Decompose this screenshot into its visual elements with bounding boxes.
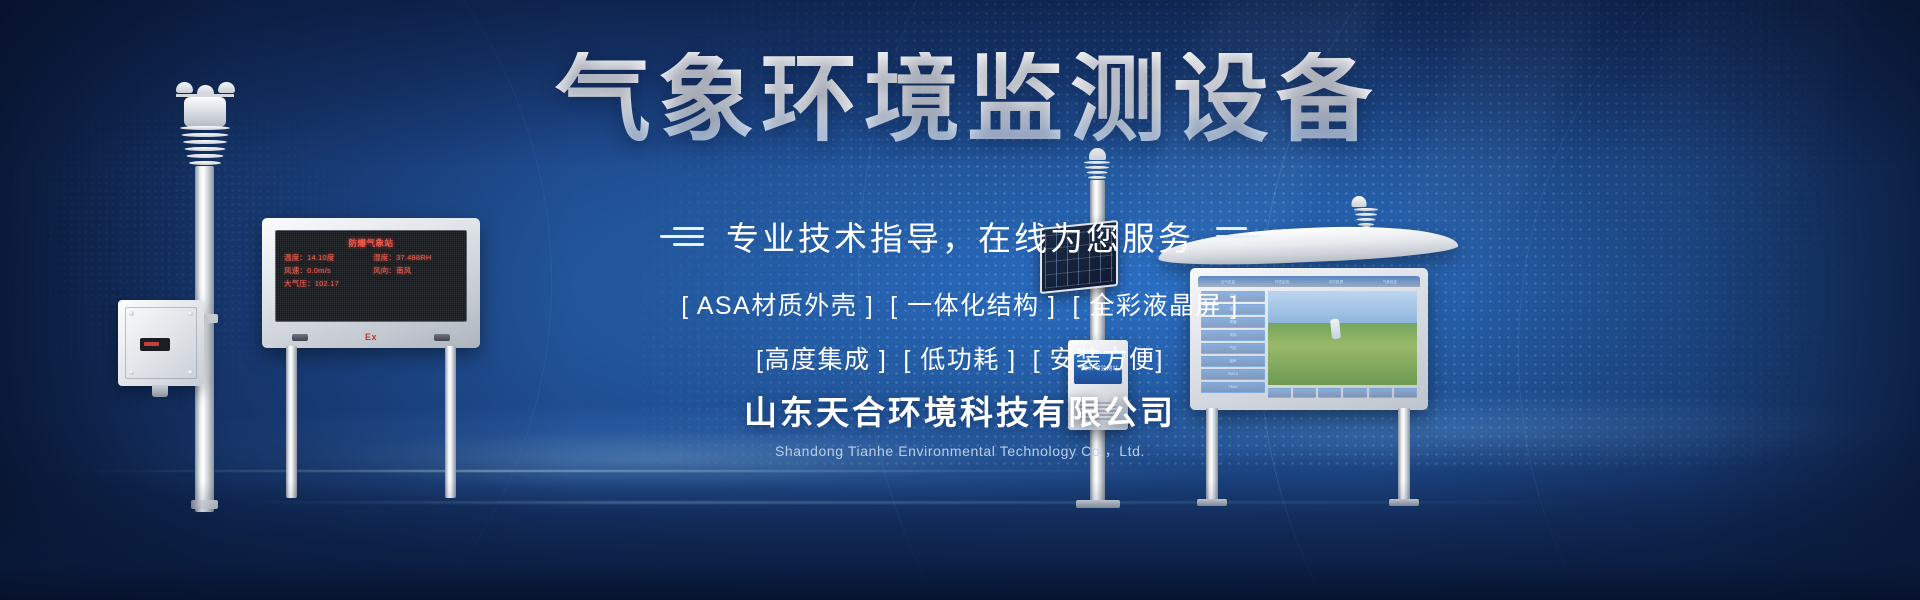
feature-tag: [ ASA材质外壳 ]: [681, 286, 874, 322]
banner-subtitle: 专业技术指导，在线为您服务: [726, 212, 1194, 260]
company-name-cn: 山东天合环境科技有限公司: [0, 386, 1920, 434]
feature-tags-row-2: [高度集成 ] [ 低功耗 ] [ 安装方便]: [0, 340, 1920, 376]
company-name-en: Shandong Tianhe Environmental Technology…: [0, 441, 1920, 461]
feature-tag: [ 低功耗 ]: [903, 340, 1016, 376]
feature-tag: [ 安装方便]: [1033, 340, 1164, 376]
banner-subtitle-row: 专业技术指导，在线为您服务: [0, 212, 1920, 260]
promo-banner: 防爆气象站 温度：14.10度 湿度：37.488RH 风速：0.0m/s 风向…: [0, 0, 1920, 600]
feature-tag: [ 全彩液晶屏 ]: [1072, 286, 1238, 322]
feature-tag: [高度集成 ]: [756, 340, 887, 376]
decorative-lines-icon: [660, 227, 704, 246]
decorative-lines-icon: [1216, 227, 1260, 246]
feature-tags-row-1: [ ASA材质外壳 ] [ 一体化结构 ] [ 全彩液晶屏 ]: [0, 286, 1920, 322]
banner-text-content: 气象环境监测设备 专业技术指导，在线为您服务 [ ASA材质外壳 ] [ 一体化…: [0, 0, 1920, 600]
company-block: 山东天合环境科技有限公司 Shandong Tianhe Environment…: [0, 386, 1920, 461]
banner-headline: 气象环境监测设备: [0, 52, 1920, 148]
feature-tag: [ 一体化结构 ]: [890, 286, 1056, 322]
